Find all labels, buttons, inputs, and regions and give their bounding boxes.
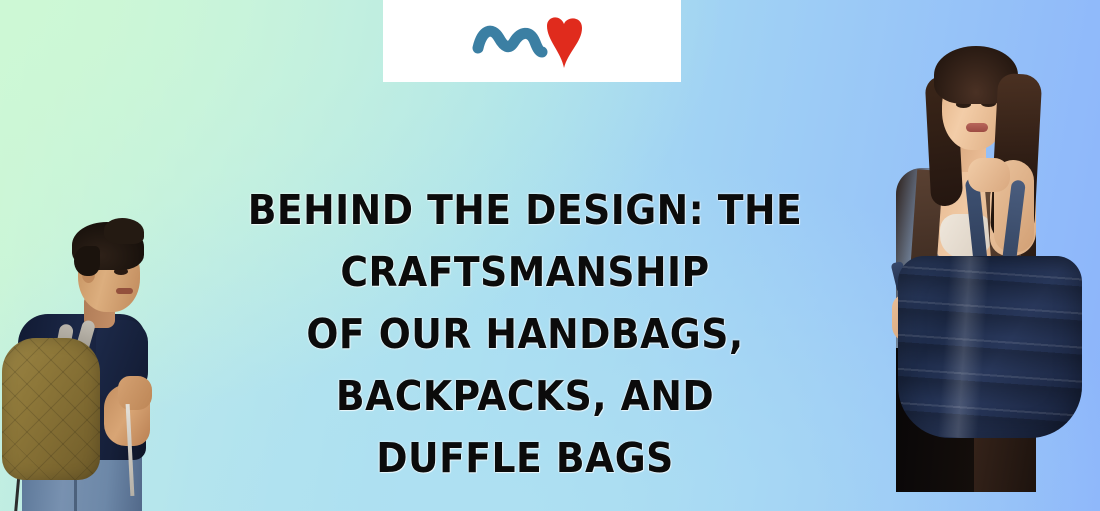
model-photo-woman-with-tote: [872, 18, 1082, 492]
banner-headline: BEHIND THE DESIGN: THE CRAFTSMANSHIP OF …: [171, 179, 879, 489]
headline-line-2: OF OUR HANDBAGS, BACKPACKS, AND: [171, 303, 879, 427]
mans-lips: [116, 288, 133, 294]
olive-quilted-backpack: [2, 338, 100, 480]
womans-hand-holding-handles: [968, 158, 1010, 192]
blog-hero-banner: BEHIND THE DESIGN: THE CRAFTSMANSHIP OF …: [0, 0, 1100, 511]
mans-hair-curl: [104, 218, 144, 244]
mans-hand-gripping-strap: [118, 376, 152, 410]
womans-lips: [966, 123, 988, 132]
mans-hair-side: [74, 246, 100, 276]
model-photo-man-with-backpack: [0, 208, 185, 511]
mv-logo-icon: [472, 12, 592, 70]
backpack-quilting-pattern: [2, 338, 100, 480]
headline-line-3: DUFFLE BAGS: [171, 427, 879, 489]
brand-logo-plate[interactable]: [383, 0, 681, 82]
headline-line-1: BEHIND THE DESIGN: THE CRAFTSMANSHIP: [171, 179, 879, 303]
tote-quilting-pattern: [898, 256, 1082, 438]
navy-puffer-tote-bag: [898, 256, 1082, 438]
